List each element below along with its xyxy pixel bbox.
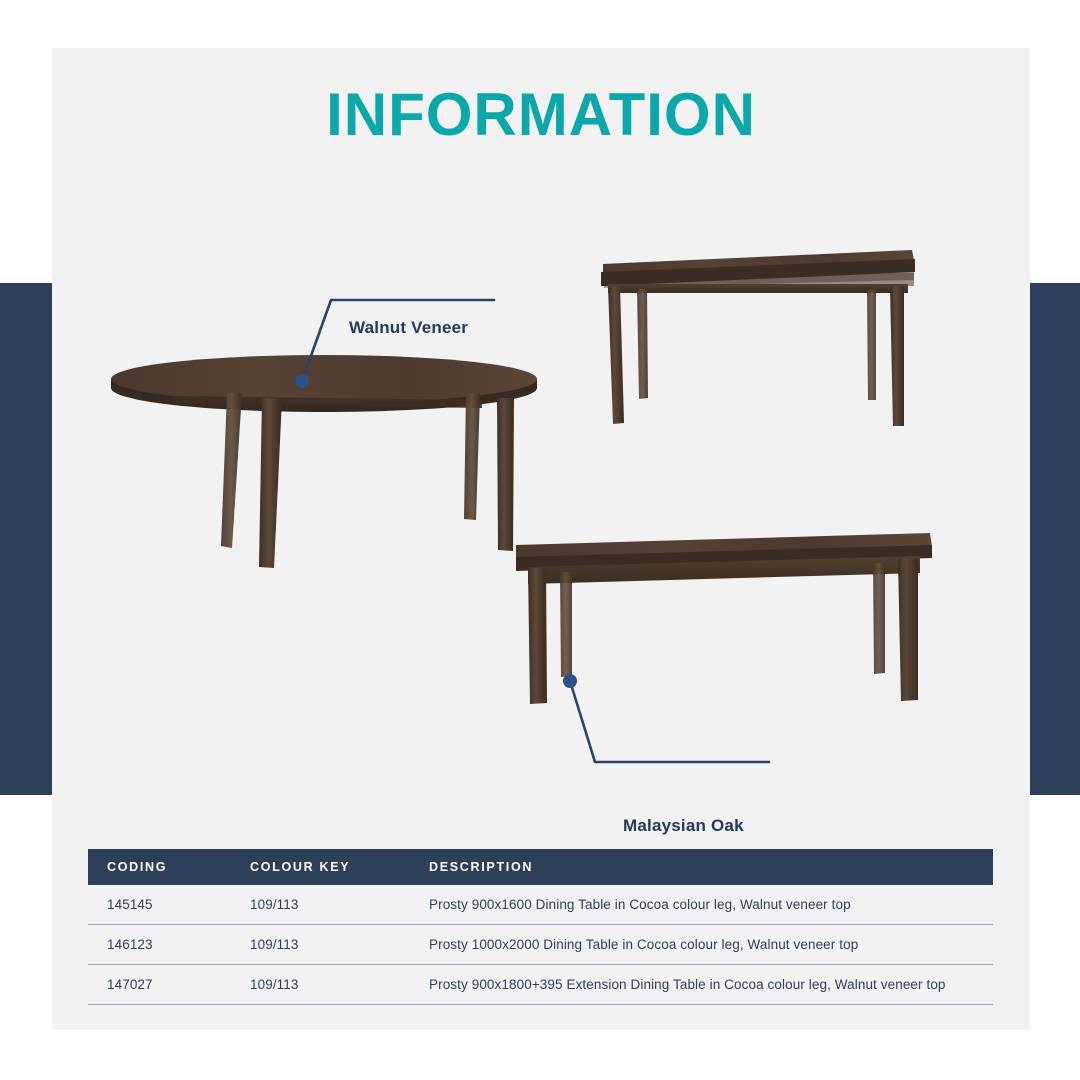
decorative-band-right — [1030, 283, 1080, 795]
table-header-row: CODING COLOUR KEY DESCRIPTION — [88, 849, 993, 885]
cell-description: Prosty 900x1800+395 Extension Dining Tab… — [429, 977, 993, 992]
table-row: 145145 109/113 Prosty 900x1600 Dining Ta… — [88, 885, 993, 925]
table-row: 147027 109/113 Prosty 900x1800+395 Exten… — [88, 965, 993, 1005]
product-oval-dining-table — [111, 355, 537, 568]
cell-description: Prosty 1000x2000 Dining Table in Cocoa c… — [429, 937, 993, 952]
column-header-description: DESCRIPTION — [429, 860, 993, 874]
column-header-coding: CODING — [88, 860, 250, 874]
decorative-band-left — [0, 283, 52, 795]
product-rectangular-dining-table — [601, 250, 915, 426]
product-illustrations — [52, 48, 1030, 838]
cell-coding: 147027 — [88, 977, 250, 992]
page-title: INFORMATION — [52, 85, 1030, 145]
cell-colour-key: 109/113 — [250, 937, 429, 952]
column-header-colour-key: COLOUR KEY — [250, 860, 429, 874]
cell-colour-key: 109/113 — [250, 897, 429, 912]
product-extension-dining-table — [516, 533, 932, 704]
cell-description: Prosty 900x1600 Dining Table in Cocoa co… — [429, 897, 993, 912]
information-sheet: INFORMATION — [0, 0, 1080, 1080]
content-panel: INFORMATION — [52, 48, 1030, 1030]
leader-line-walnut-veneer — [295, 300, 494, 388]
cell-colour-key: 109/113 — [250, 977, 429, 992]
annotation-label-malaysian-oak: Malaysian Oak — [623, 816, 744, 836]
specification-table: CODING COLOUR KEY DESCRIPTION 145145 109… — [88, 849, 993, 1005]
annotation-label-walnut-veneer: Walnut Veneer — [349, 318, 468, 338]
leader-line-malaysian-oak — [563, 674, 769, 762]
table-row: 146123 109/113 Prosty 1000x2000 Dining T… — [88, 925, 993, 965]
cell-coding: 146123 — [88, 937, 250, 952]
cell-coding: 145145 — [88, 897, 250, 912]
